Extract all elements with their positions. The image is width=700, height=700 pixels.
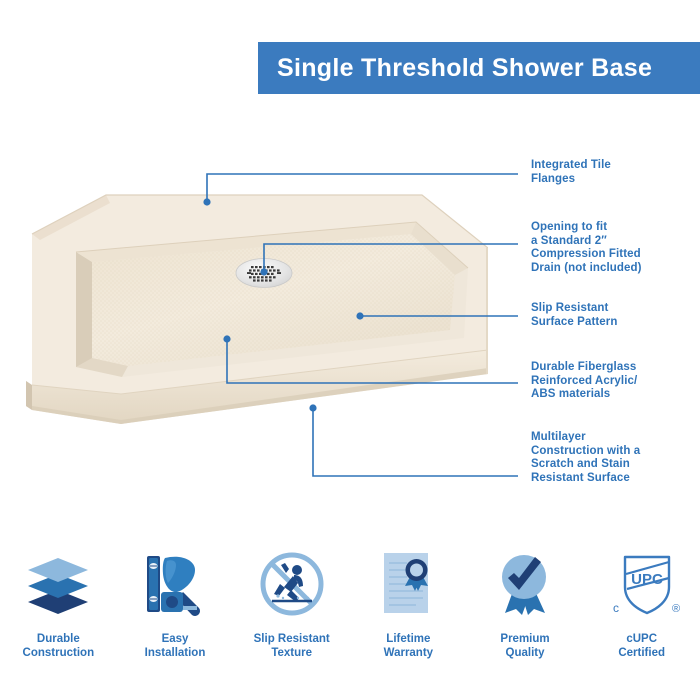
feature-label: Easy Installation xyxy=(145,632,206,660)
check-rosette-icon xyxy=(480,548,570,620)
level-trowel-tape-icon xyxy=(130,548,220,620)
feature-cupc-certified: UPC c ® cUPC Certified xyxy=(583,540,700,700)
feature-label: Slip Resistant Texture xyxy=(254,632,330,660)
feature-slip-resistant-texture: Slip Resistant Texture xyxy=(233,540,350,700)
stacked-layers-icon xyxy=(13,548,103,620)
feature-label: cUPC Certified xyxy=(618,632,665,660)
drain-cover xyxy=(236,259,292,288)
callout-integrated-tile-flanges: Integrated Tile Flanges xyxy=(531,159,611,186)
feature-durable-construction: Durable Construction xyxy=(0,540,117,700)
feature-easy-installation: Easy Installation xyxy=(117,540,234,700)
feature-label: Premium Quality xyxy=(500,632,549,660)
certificate-seal-icon xyxy=(363,548,453,620)
callout-drain-opening: Opening to fit a Standard 2″ Compression… xyxy=(531,221,642,275)
header-banner: Single Threshold Shower Base xyxy=(258,42,700,94)
callout-durable-materials: Durable Fiberglass Reinforced Acrylic/ A… xyxy=(531,361,637,402)
svg-text:c: c xyxy=(613,601,619,615)
product-illustration xyxy=(18,178,488,470)
feature-label: Lifetime Warranty xyxy=(384,632,433,660)
page-title: Single Threshold Shower Base xyxy=(258,54,652,83)
feature-strip: Durable Construction xyxy=(0,540,700,700)
upc-shield-icon: UPC c ® xyxy=(597,548,687,620)
svg-text:®: ® xyxy=(672,603,680,615)
callout-slip-resistant-surface-pattern: Slip Resistant Surface Pattern xyxy=(531,302,618,329)
feature-lifetime-warranty: Lifetime Warranty xyxy=(350,540,467,700)
feature-label: Durable Construction xyxy=(23,632,95,660)
callout-multilayer-construction: Multilayer Construction with a Scratch a… xyxy=(531,431,640,485)
infographic-canvas: Single Threshold Shower Base xyxy=(0,0,700,700)
svg-text:UPC: UPC xyxy=(631,571,663,588)
no-slip-icon xyxy=(247,548,337,620)
feature-premium-quality: Premium Quality xyxy=(467,540,584,700)
